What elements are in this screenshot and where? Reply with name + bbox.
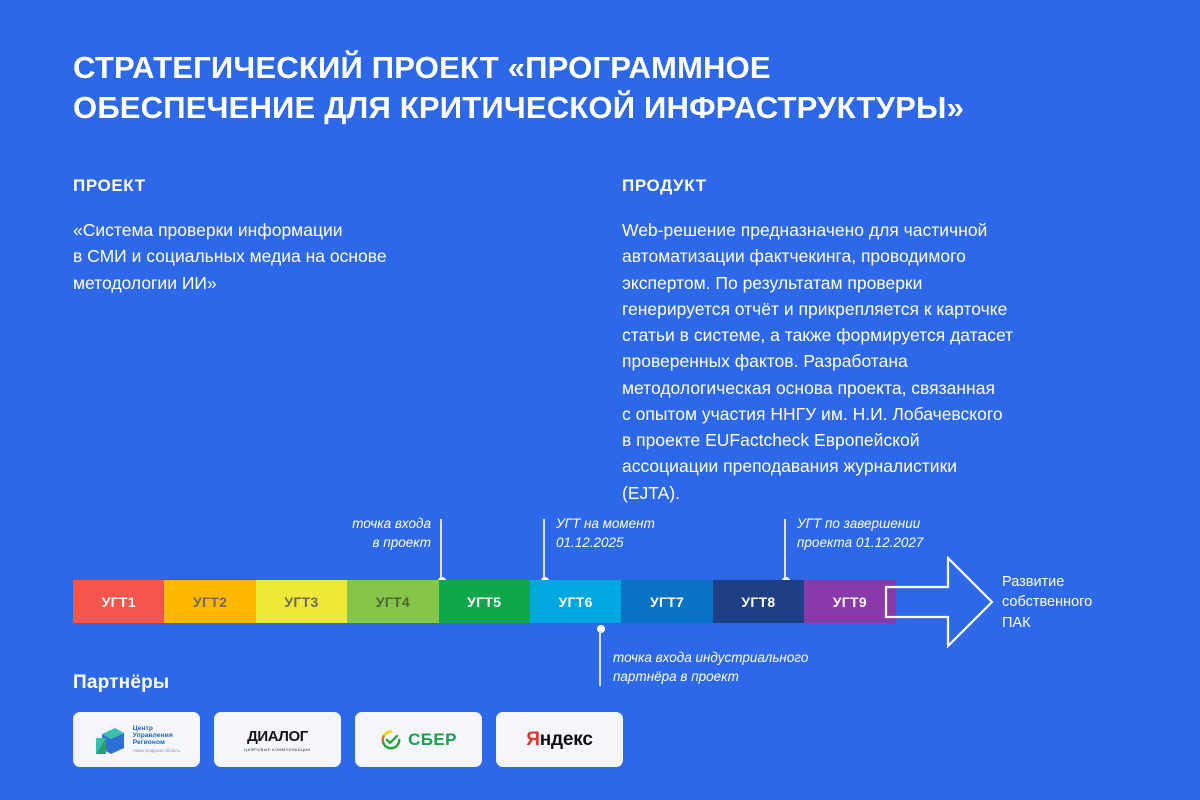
trl-segment-label: УГТ1: [102, 594, 136, 610]
cur-line-3: Регионом: [133, 740, 181, 747]
callout-dot-4: [597, 625, 605, 633]
trl-segment-label: УГТ6: [559, 594, 593, 610]
trl-segment-8[interactable]: УГТ8: [713, 580, 804, 623]
partner-logo-cur[interactable]: Центр Управления Регионом Нижегородская …: [73, 712, 200, 767]
trl-segment-3[interactable]: УГТ3: [256, 580, 347, 623]
trl-segment-4[interactable]: УГТ4: [347, 580, 438, 623]
cube-icon: [93, 724, 127, 756]
callout-trl-2027: УГТ по завершении проекта 01.12.2027: [797, 514, 1057, 552]
partner-logo-dialog[interactable]: ДИАЛОГ ЦИФРОВЫЕ КОММУНИКАЦИИ: [214, 712, 341, 767]
trl-segment-label: УГТ8: [741, 594, 775, 610]
page-title: СТРАТЕГИЧЕСКИЙ ПРОЕКТ «ПРОГРАММНОЕ ОБЕСП…: [73, 48, 1133, 129]
partners-heading: Партнёры: [73, 672, 169, 694]
trl-segment-2[interactable]: УГТ2: [164, 580, 255, 623]
partners-logo-list: Центр Управления Регионом Нижегородская …: [73, 712, 623, 767]
partner-logo-yandex[interactable]: Яндекс: [496, 712, 623, 767]
callout-leader-2: [543, 519, 545, 582]
trl-segment-5[interactable]: УГТ5: [439, 580, 530, 623]
trl-segment-9[interactable]: УГТ9: [804, 580, 895, 623]
trl-segment-label: УГТ7: [650, 594, 684, 610]
trl-segment-1[interactable]: УГТ1: [73, 580, 164, 623]
trl-segment-label: УГТ3: [284, 594, 318, 610]
trl-segment-7[interactable]: УГТ7: [621, 580, 712, 623]
yandex-ya-glyph: Я: [526, 729, 539, 750]
callout-trl-2025: УГТ на момент 01.12.2025: [556, 514, 786, 552]
trl-segment-label: УГТ5: [467, 594, 501, 610]
callout-entry-point: точка входа в проект: [241, 514, 431, 552]
trl-segment-6[interactable]: УГТ6: [530, 580, 621, 623]
project-body: «Система проверки информации в СМИ и соц…: [73, 217, 573, 296]
trl-bar: УГТ1 УГТ2 УГТ3 УГТ4 УГТ5 УГТ6 УГТ7 УГТ8 …: [73, 580, 896, 623]
dialog-wordmark: ДИАЛОГ: [247, 728, 308, 745]
arrow-label: Развитие собственного ПАК: [1002, 572, 1092, 633]
product-column: ПРОДУКТ Web-решение предназначено для ча…: [622, 176, 1122, 506]
callout-leader-4: [599, 630, 601, 686]
yandex-wordmark: ндекс: [540, 729, 593, 750]
callout-leader-3: [784, 519, 786, 582]
product-heading: ПРОДУКТ: [622, 176, 1122, 196]
product-body: Web-решение предназначено для частичной …: [622, 217, 1122, 506]
growth-arrow: [884, 556, 996, 653]
arrow-right-icon: [884, 556, 996, 648]
trl-segment-label: УГТ9: [833, 594, 867, 610]
project-heading: ПРОЕКТ: [73, 176, 573, 196]
cur-subtitle: Нижегородская область: [133, 749, 181, 753]
callout-industrial-partner: точка входа индустриального партнёра в п…: [613, 648, 913, 686]
dialog-subtitle: ЦИФРОВЫЕ КОММУНИКАЦИИ: [244, 747, 310, 752]
trl-segment-label: УГТ4: [376, 594, 410, 610]
project-column: ПРОЕКТ «Система проверки информации в СМ…: [73, 176, 573, 296]
sber-circle-icon: [380, 729, 402, 751]
sber-wordmark: СБЕР: [408, 730, 457, 750]
callout-leader-1: [440, 519, 442, 582]
slide-root: СТРАТЕГИЧЕСКИЙ ПРОЕКТ «ПРОГРАММНОЕ ОБЕСП…: [0, 0, 1200, 800]
trl-segment-label: УГТ2: [193, 594, 227, 610]
partner-logo-sber[interactable]: СБЕР: [355, 712, 482, 767]
